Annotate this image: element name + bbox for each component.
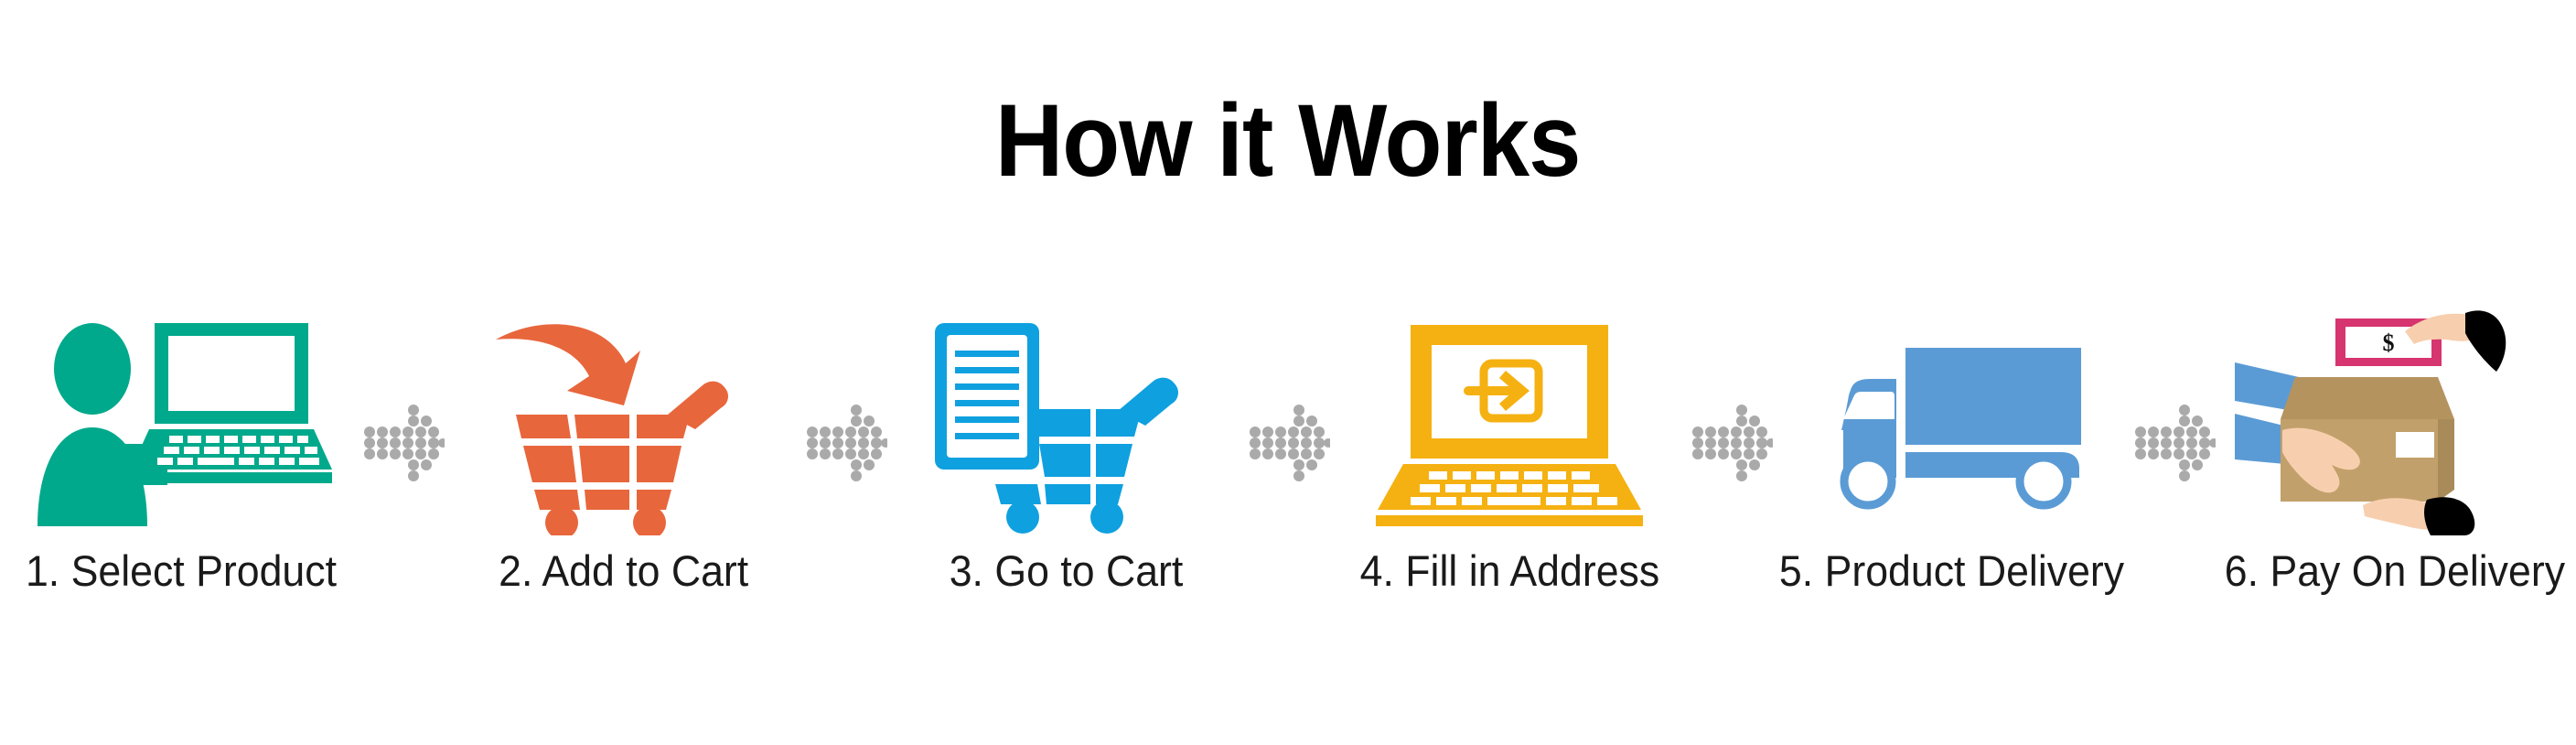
separator-4 bbox=[1685, 302, 1776, 632]
dotted-arrow-right-icon bbox=[2131, 401, 2216, 485]
steps-row: 1. Select Product bbox=[0, 302, 2576, 632]
step-5-icon-container bbox=[1792, 302, 2112, 535]
delivery-truck-icon bbox=[1810, 339, 2094, 535]
step-1-icon-container bbox=[21, 302, 341, 535]
person-with-laptop-icon bbox=[30, 307, 332, 535]
step-6-label: 6. Pay On Delivery bbox=[2225, 548, 2565, 593]
step-1-label: 1. Select Product bbox=[26, 548, 337, 593]
step-4-fill-in-address[interactable]: 4. Fill in Address bbox=[1334, 302, 1685, 632]
separator-3 bbox=[1242, 302, 1334, 632]
step-4-icon-container bbox=[1349, 302, 1669, 535]
step-6-icon-container: $ bbox=[2235, 302, 2555, 535]
step-5-label: 5. Product Delivery bbox=[1779, 548, 2124, 593]
step-6-pay-on-delivery[interactable]: $ bbox=[2219, 302, 2571, 632]
banknote-dollar-symbol: $ bbox=[2383, 329, 2395, 356]
cart-with-incoming-arrow-icon bbox=[487, 307, 761, 535]
how-it-works-infographic: How it Works bbox=[0, 0, 2576, 745]
step-2-icon-container bbox=[464, 302, 784, 535]
step-3-go-to-cart[interactable]: 3. Go to Cart bbox=[891, 302, 1242, 632]
dotted-arrow-right-icon bbox=[1246, 401, 1330, 485]
step-2-label: 2. Add to Cart bbox=[499, 548, 748, 593]
laptop-with-login-arrow-icon bbox=[1372, 307, 1647, 535]
step-3-label: 3. Go to Cart bbox=[950, 548, 1184, 593]
document-with-cart-icon bbox=[929, 307, 1204, 535]
dotted-arrow-right-icon bbox=[360, 401, 445, 485]
step-4-label: 4. Fill in Address bbox=[1359, 548, 1659, 593]
page-title: How it Works bbox=[995, 90, 1581, 192]
step-3-icon-container bbox=[907, 302, 1227, 535]
separator-2 bbox=[800, 302, 891, 632]
title-container: How it Works bbox=[0, 90, 2576, 192]
hands-exchanging-box-and-money-icon: $ bbox=[2235, 302, 2555, 535]
separator-5 bbox=[2128, 302, 2219, 632]
step-2-add-to-cart[interactable]: 2. Add to Cart bbox=[448, 302, 800, 632]
step-1-select-product[interactable]: 1. Select Product bbox=[5, 302, 357, 632]
dotted-arrow-right-icon bbox=[803, 401, 887, 485]
separator-1 bbox=[357, 302, 448, 632]
step-5-product-delivery[interactable]: 5. Product Delivery bbox=[1776, 302, 2128, 632]
dotted-arrow-right-icon bbox=[1689, 401, 1773, 485]
